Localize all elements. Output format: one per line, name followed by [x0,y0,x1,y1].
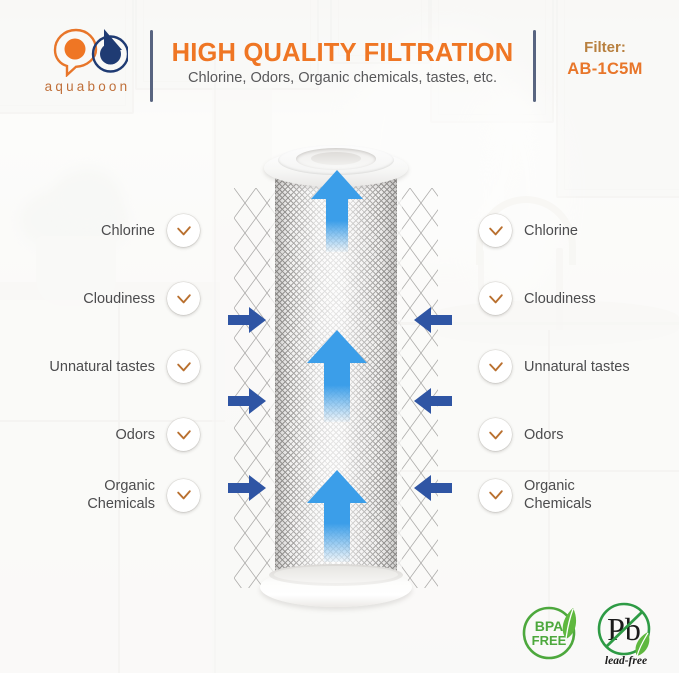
checkmark-icon [167,214,200,247]
svg-text:BPA: BPA [535,618,564,634]
checkmark-icon [167,479,200,512]
arrow-upward-icon [310,170,364,257]
certification-badges: BPA FREE Pb lead-free [516,598,668,670]
page-subtitle: Chlorine, Odors, Organic chemicals, tast… [160,70,525,86]
arrow-inward-icon [414,475,452,506]
feature-label: Unnatural tastes [524,358,630,376]
arrow-upward-icon [306,470,368,567]
feature-label: Chlorine [101,222,155,240]
feature-label: Odors [524,426,564,444]
bpa-free-icon: BPA FREE [516,598,586,673]
filter-model-block: Filter: AB-1C5M [545,38,665,80]
feature-label: Chlorine [524,222,578,240]
feature-row-right-2: Cloudiness [479,282,596,315]
header-divider-left [150,30,153,102]
checkmark-icon [479,350,512,383]
feature-label: Unnatural tastes [49,358,155,376]
feature-row-left-2: Cloudiness [83,282,200,315]
product-infographic: aquaboon HIGH QUALITY FILTRATION Chlorin… [0,0,679,673]
feature-row-left-5: Organic Chemicals [87,477,200,513]
feature-row-left-1: Chlorine [101,214,200,247]
filter-label: Filter: [545,38,665,58]
feature-row-right-1: Chlorine [479,214,578,247]
feature-label: Organic Chemicals [524,477,592,513]
checkmark-icon [479,214,512,247]
arrow-inward-icon [414,388,452,419]
arrow-inward-icon [228,307,266,338]
header-divider-right [533,30,536,102]
checkmark-icon [167,418,200,451]
feature-row-right-3: Unnatural tastes [479,350,630,383]
feature-row-left-3: Unnatural tastes [49,350,200,383]
feature-label: Cloudiness [83,290,155,308]
checkmark-icon [479,479,512,512]
feature-label: Organic Chemicals [87,477,155,513]
carbon-block-water-filter-cartridge [262,143,410,628]
feature-row-right-4: Odors [479,418,564,451]
arrow-inward-icon [414,307,452,338]
brand-wordmark: aquaboon [30,79,145,94]
feature-label: Odors [116,426,156,444]
arrow-inward-icon [228,388,266,419]
brand-logo: aquaboon [30,27,145,99]
arrow-inward-icon [228,475,266,506]
checkmark-icon [479,418,512,451]
aquaboon-droplet-ab-logo-icon [52,27,128,77]
checkmark-icon [167,282,200,315]
lead-free-icon: Pb lead-free [592,598,668,673]
svg-text:FREE: FREE [532,633,567,648]
feature-label: Cloudiness [524,290,596,308]
filter-bottom-end-cap [260,567,412,611]
header: aquaboon HIGH QUALITY FILTRATION Chlorin… [0,0,679,110]
filter-model-value: AB-1C5M [545,58,665,80]
checkmark-icon [167,350,200,383]
feature-row-right-5: Organic Chemicals [479,477,592,513]
checkmark-icon [479,282,512,315]
page-title: HIGH QUALITY FILTRATION [160,39,525,68]
feature-row-left-4: Odors [116,418,201,451]
svg-text:lead-free: lead-free [605,655,647,667]
arrow-upward-icon [306,330,368,427]
